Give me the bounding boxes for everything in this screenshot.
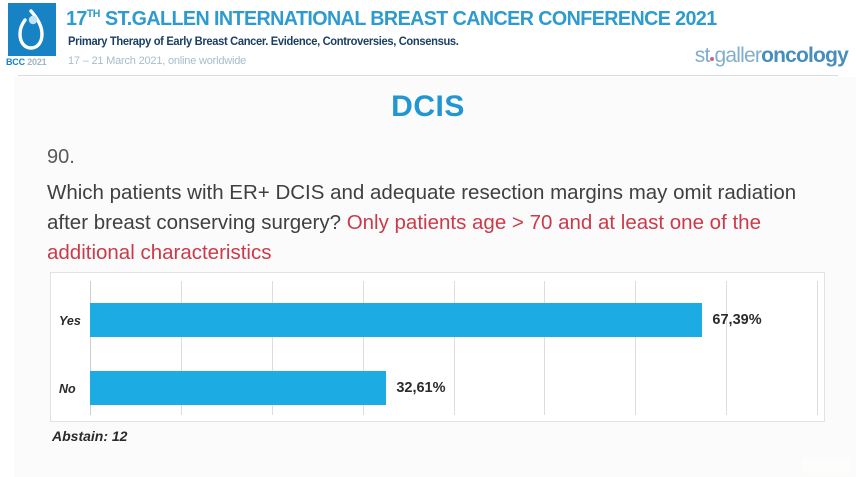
chart-gridline (817, 281, 818, 415)
org-logo-galler: galler (715, 44, 762, 67)
conference-title-prefix: 17 (66, 7, 87, 30)
chart-category-label-no: No (59, 382, 95, 396)
chart-bar-yes (90, 303, 702, 337)
page-title: DCIS (0, 90, 856, 124)
conference-subtitle: Primary Therapy of Early Breast Cancer. … (68, 36, 459, 48)
question-text: Which patients with ER+ DCIS and adequat… (47, 178, 819, 268)
question-number: 90. (47, 146, 75, 169)
chart-value-label-no: 32,61% (396, 380, 445, 396)
chart-bar-no (90, 371, 386, 405)
corner-artifact (802, 459, 850, 473)
org-logo-st: st (695, 44, 710, 67)
conference-title: 17TH ST.GALLEN INTERNATIONAL BREAST CANC… (66, 7, 717, 31)
org-logo-dot-icon (710, 57, 714, 61)
conference-title-ordinal: TH (87, 8, 100, 20)
bcc-logo-caption-year: 2021 (27, 57, 46, 67)
conference-header: BCC 2021 17TH ST.GALLEN INTERNATIONAL BR… (0, 0, 856, 77)
chart-plot-area: 67,39%32,61% (90, 281, 817, 415)
chart-bar-row: 67,39% (90, 303, 817, 337)
bcc-logo-caption: BCC 2021 (6, 57, 62, 67)
bcc-logo-caption-bcc: BCC (6, 57, 25, 67)
org-logo-oncology: oncology (761, 44, 848, 67)
conference-title-main: ST.GALLEN INTERNATIONAL BREAST CANCER CO… (100, 7, 717, 30)
header-divider (18, 75, 838, 76)
results-bar-chart: 67,39%32,61% YesNo (50, 272, 825, 422)
chart-category-label-yes: Yes (59, 314, 95, 328)
chart-bar-row: 32,61% (90, 371, 817, 405)
slide-left-margin (0, 77, 14, 477)
conference-date: 17 – 21 March 2021, online worldwide (68, 55, 246, 67)
abstain-count-label: Abstain: 12 (52, 428, 127, 444)
st-galler-oncology-logo: stgalleroncology (695, 44, 848, 68)
presentation-slide: BCC 2021 17TH ST.GALLEN INTERNATIONAL BR… (0, 0, 856, 477)
bcc-logo: BCC 2021 (4, 3, 60, 71)
droplet-icon (16, 9, 46, 50)
chart-value-label-yes: 67,39% (712, 312, 761, 328)
